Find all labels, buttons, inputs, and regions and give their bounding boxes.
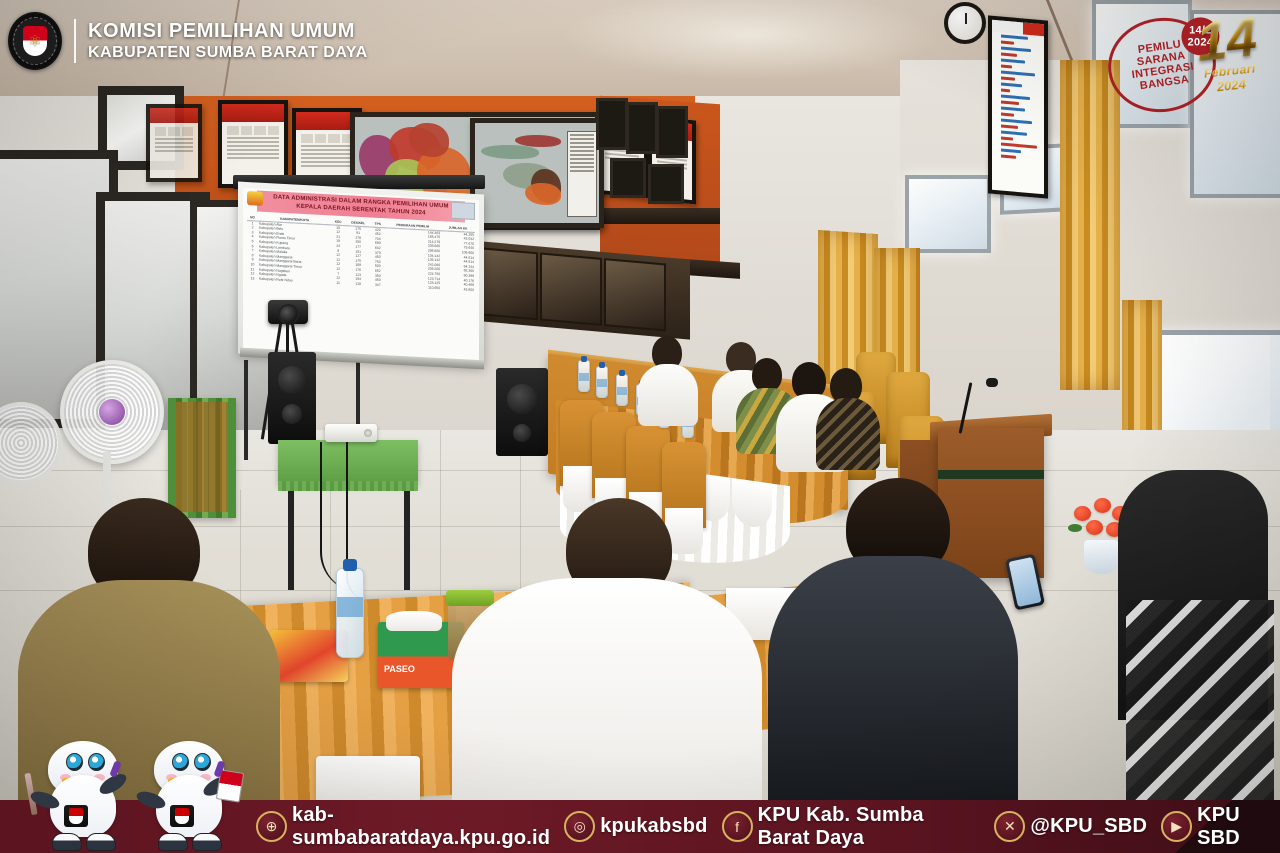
speaker-right bbox=[496, 368, 548, 456]
social-link-label: kpukabsbd bbox=[600, 815, 707, 838]
mascot-shirt-logo bbox=[170, 805, 194, 827]
globe-icon[interactable]: ⊕ bbox=[256, 811, 287, 842]
youtube-icon[interactable]: ▶ bbox=[1161, 811, 1192, 842]
water-bottle-aqua bbox=[336, 568, 364, 658]
projector bbox=[325, 424, 377, 442]
social-link-x-twitter[interactable]: ✕@KPU_SBD bbox=[994, 811, 1147, 842]
tissue-sheet bbox=[386, 611, 442, 631]
tissue-brand-label: PASEO bbox=[384, 664, 415, 674]
leaf bbox=[1068, 524, 1082, 532]
slide-photo bbox=[451, 202, 475, 220]
flower bbox=[1086, 520, 1103, 535]
video-camera bbox=[268, 300, 308, 324]
mascot-shoe bbox=[158, 833, 188, 851]
instagram-icon[interactable]: ◎ bbox=[564, 811, 595, 842]
meeting-room-photo: DATA ADMINISTRASI DALAM RANGKA PEMILIHAN… bbox=[0, 0, 1280, 853]
election-day-number: 14 bbox=[1194, 13, 1259, 67]
mascot-shoe bbox=[52, 833, 82, 851]
facebook-icon[interactable]: f bbox=[722, 811, 753, 842]
wall-notice-frame bbox=[146, 104, 202, 182]
covered-chair bbox=[662, 442, 706, 528]
water-bottle bbox=[578, 360, 590, 392]
flower bbox=[1094, 498, 1111, 513]
table-leg bbox=[404, 480, 410, 590]
slide-table-body: 1Kabupaten Alor18175420144.36344.2552Kab… bbox=[247, 220, 475, 292]
speaker-left bbox=[268, 352, 316, 444]
wall-map-right bbox=[470, 118, 604, 228]
water-bottle bbox=[596, 366, 608, 398]
slide-table: NO KABUPATEN/KOTA KEC DES/KEL TPS PERKIR… bbox=[247, 215, 475, 292]
org-name: KOMISI PEMILIHAN UMUM bbox=[88, 19, 368, 43]
flower-vase bbox=[1084, 540, 1118, 574]
projection-screen: DATA ADMINISTRASI DALAM RANGKA PEMILIHAN… bbox=[238, 182, 484, 367]
napkin bbox=[316, 756, 420, 806]
social-link-instagram[interactable]: ◎kpukabsbd bbox=[564, 811, 707, 842]
social-link-label: KPU SBD bbox=[1197, 804, 1266, 850]
ceiling-light-glow bbox=[560, 0, 940, 80]
patterned-garment bbox=[1126, 600, 1274, 800]
wall-frames-strip bbox=[596, 96, 706, 276]
social-link-globe[interactable]: ⊕kab-sumbabaratdaya.kpu.go.id bbox=[256, 804, 550, 850]
x-twitter-icon[interactable]: ✕ bbox=[994, 811, 1025, 842]
microphone bbox=[986, 378, 998, 387]
social-link-label: kab-sumbabaratdaya.kpu.go.id bbox=[292, 804, 550, 850]
kpu-garuda-logo-icon: ⚛ bbox=[8, 12, 62, 70]
screenshot-root: DATA ADMINISTRASI DALAM RANGKA PEMILIHAN… bbox=[0, 0, 1280, 853]
brand-text: KOMISI PEMILIHAN UMUM KABUPATEN SUMBA BA… bbox=[88, 19, 368, 63]
social-links: ⊕kab-sumbabaratdaya.kpu.go.id◎kpukabsbdf… bbox=[256, 800, 1280, 853]
mascot-eye bbox=[88, 753, 105, 771]
curtain-right-gold bbox=[1060, 60, 1120, 390]
mascot-eye bbox=[172, 753, 189, 771]
wall-clock bbox=[944, 2, 986, 44]
mascot-shoe bbox=[86, 833, 116, 851]
bar-chart-poster bbox=[988, 15, 1048, 198]
mascot-sulu bbox=[140, 739, 240, 851]
mascot-shoe bbox=[192, 833, 222, 851]
standing-fan bbox=[60, 360, 164, 464]
mascot-eye bbox=[66, 753, 83, 771]
hanging-cloth-orange bbox=[176, 402, 228, 512]
flower bbox=[1074, 506, 1091, 521]
social-link-youtube[interactable]: ▶KPU SBD bbox=[1161, 804, 1266, 850]
screen-leg bbox=[244, 360, 248, 460]
slide-logo-icon bbox=[247, 191, 263, 206]
brand-header: ⚛ KOMISI PEMILIHAN UMUM KABUPATEN SUMBA … bbox=[8, 12, 368, 70]
water-bottle bbox=[616, 374, 628, 406]
mascot-group bbox=[34, 731, 254, 851]
social-link-facebook[interactable]: fKPU Kab. Sumba Barat Daya bbox=[722, 804, 981, 850]
mascot-sura bbox=[34, 739, 134, 851]
social-link-label: @KPU_SBD bbox=[1030, 815, 1147, 838]
brand-divider bbox=[74, 19, 76, 63]
social-link-label: KPU Kab. Sumba Barat Daya bbox=[758, 804, 981, 850]
org-region: KABUPATEN SUMBA BARAT DAYA bbox=[88, 43, 368, 63]
election-date-graphic: 14 Februari 2024 bbox=[1194, 13, 1262, 96]
podium-band bbox=[938, 470, 1044, 479]
mascot-shirt-logo bbox=[64, 805, 88, 827]
window-a bbox=[905, 175, 991, 253]
mascot-eye bbox=[194, 753, 211, 771]
